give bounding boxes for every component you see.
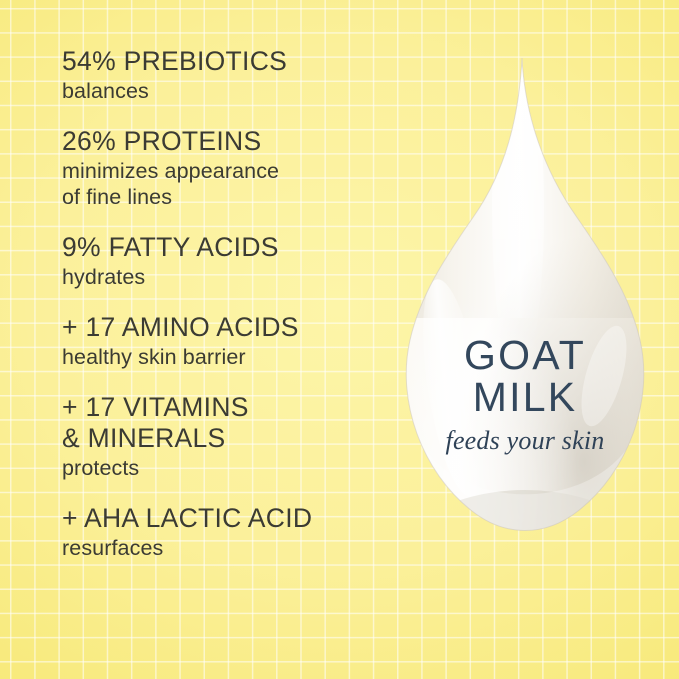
ingredient-title: + 17 VITAMINS & MINERALS (62, 392, 382, 454)
ingredient-title: + AHA LACTIC ACID (62, 503, 382, 534)
list-item: 26% PROTEINS minimizes appearance of fin… (62, 126, 382, 210)
ingredient-benefit: resurfaces (62, 535, 382, 561)
ingredient-benefit: healthy skin barrier (62, 344, 382, 370)
ingredient-list: 54% PREBIOTICS balances 26% PROTEINS min… (62, 46, 382, 561)
ingredient-benefit: minimizes appearance of fine lines (62, 158, 382, 210)
ingredient-title: 54% PREBIOTICS (62, 46, 382, 77)
list-item: + 17 VITAMINS & MINERALS protects (62, 392, 382, 481)
list-item: + AHA LACTIC ACID resurfaces (62, 503, 382, 561)
ingredient-benefit: protects (62, 455, 382, 481)
milk-droplet-graphic: GOAT MILK feeds your skin (392, 58, 658, 550)
milk-droplet-icon (392, 58, 658, 550)
list-item: 9% FATTY ACIDS hydrates (62, 232, 382, 290)
list-item: 54% PREBIOTICS balances (62, 46, 382, 104)
ingredient-title: 9% FATTY ACIDS (62, 232, 382, 263)
ingredient-benefit: hydrates (62, 264, 382, 290)
poster-canvas: 54% PREBIOTICS balances 26% PROTEINS min… (0, 0, 679, 679)
ingredient-title: 26% PROTEINS (62, 126, 382, 157)
ingredient-title: + 17 AMINO ACIDS (62, 312, 382, 343)
ingredient-benefit: balances (62, 78, 382, 104)
list-item: + 17 AMINO ACIDS healthy skin barrier (62, 312, 382, 370)
